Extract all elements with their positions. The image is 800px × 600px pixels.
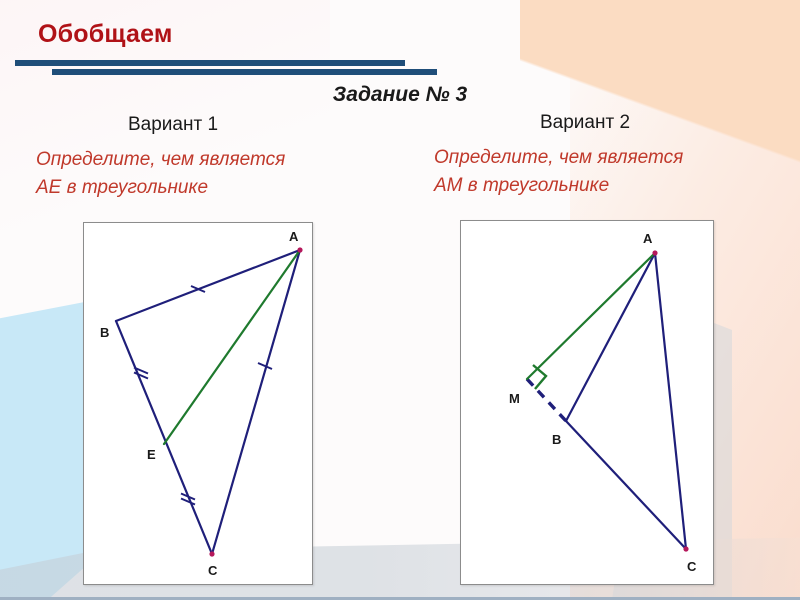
variant-1-figure: ABCE: [83, 222, 313, 585]
extension-MB: [527, 379, 566, 421]
slide-canvas: Обобщаем Задание № 3 Вариант 1 Определит…: [0, 0, 800, 600]
median-figure-svg: ABCE: [84, 223, 312, 584]
vertex-label-A: A: [289, 229, 299, 244]
vertex-label-C: C: [208, 563, 218, 578]
side-AB: [566, 253, 655, 421]
variant-1-label: Вариант 1: [128, 114, 218, 136]
vertex-label-B: B: [100, 325, 109, 340]
vertex-dot-A: [652, 250, 657, 255]
vertex-dot-A: [297, 247, 302, 252]
variant-2-figure: ABCM: [460, 220, 714, 585]
variant-1-prompt: Определите, чем является AE в треугольни…: [36, 146, 285, 201]
variant-2-prompt-line1: Определите, чем является: [434, 144, 683, 172]
title-rule-top: [15, 60, 405, 66]
side-BC: [116, 321, 212, 554]
altitude-figure-svg: ABCM: [461, 221, 713, 584]
vertex-dot-C: [209, 551, 214, 556]
background-blue-band: [0, 300, 95, 600]
title-rule-bottom: [52, 69, 437, 75]
vertex-label-A: A: [643, 231, 653, 246]
vertex-label-E: E: [147, 447, 156, 462]
side-BC: [566, 421, 686, 549]
vertex-label-B: B: [552, 432, 561, 447]
variant-1-prompt-line2: AE в треугольнике: [36, 174, 285, 202]
median-AE: [164, 250, 300, 444]
right-angle-mark: [533, 365, 546, 389]
task-heading: Задание № 3: [0, 83, 800, 107]
vertex-label-C: C: [687, 559, 697, 574]
variant-1-prompt-line1: Определите, чем является: [36, 146, 285, 174]
page-title: Обобщаем: [38, 20, 173, 49]
vertex-label-M: M: [509, 391, 520, 406]
side-AC: [212, 250, 300, 554]
variant-2-label: Вариант 2: [540, 112, 630, 134]
side-AC: [655, 253, 686, 549]
tick-BE: [134, 368, 148, 379]
side-AB: [116, 250, 300, 321]
altitude-AM: [527, 253, 655, 379]
variant-2-prompt: Определите, чем является AM в треугольни…: [434, 144, 683, 199]
vertex-dot-C: [683, 546, 688, 551]
variant-2-prompt-line2: AM в треугольнике: [434, 172, 683, 200]
